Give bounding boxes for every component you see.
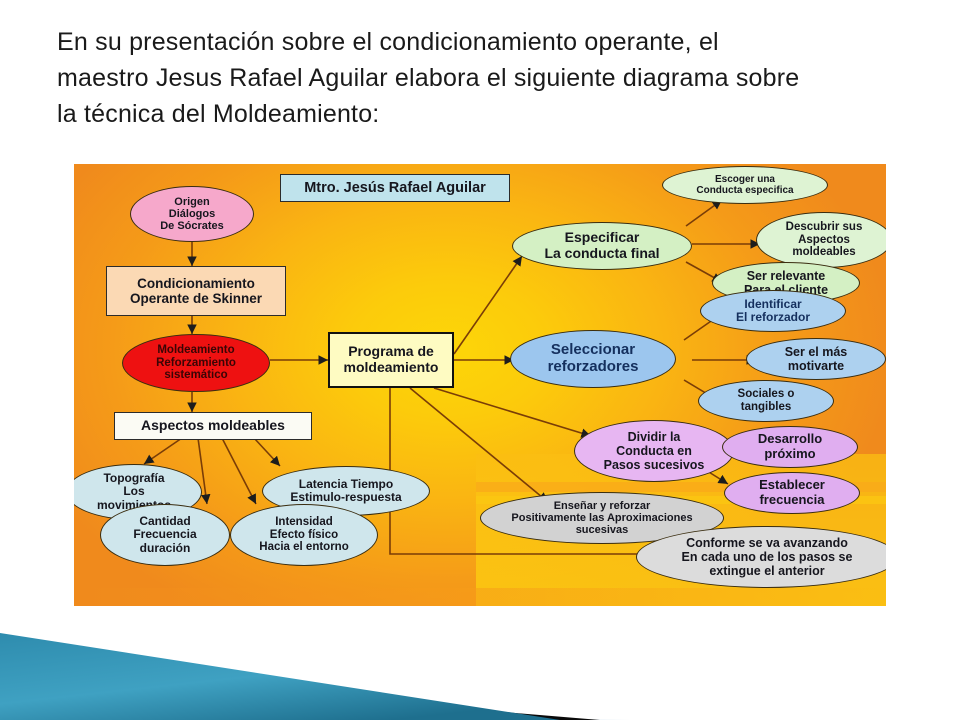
- slide-corner-decoration: [0, 600, 960, 720]
- node-establecer: Establecer frecuencia: [724, 472, 860, 514]
- node-desarrollo: Desarrollo próximo: [722, 426, 858, 468]
- diagram-image: Mtro. Jesús Rafael Aguilar Origen Diálog…: [74, 164, 886, 606]
- node-aspectos-moldeables: Aspectos moldeables: [114, 412, 312, 440]
- node-dividir-conducta: Dividir la Conducta en Pasos sucesivos: [574, 420, 734, 482]
- diagram-caption-box: Mtro. Jesús Rafael Aguilar: [280, 174, 510, 202]
- node-condicionamiento: Condicionamiento Operante de Skinner: [106, 266, 286, 316]
- node-descubrir: Descubrir sus Aspectos moldeables: [756, 212, 886, 268]
- node-identificar: Identificar El reforzador: [700, 290, 846, 332]
- node-intensidad: Intensidad Efecto físico Hacia el entorn…: [230, 504, 378, 566]
- node-conforme-avanzando: Conforme se va avanzando En cada uno de …: [636, 526, 886, 588]
- node-programa-moldeamiento: Programa de moldeamiento: [328, 332, 454, 388]
- page-title: En su presentación sobre el condicionami…: [57, 24, 927, 132]
- node-seleccionar-reforzadores: Seleccionar reforzadores: [510, 330, 676, 388]
- node-especificar: Especificar La conducta final: [512, 222, 692, 270]
- node-escoger: Escoger una Conducta especifica: [662, 166, 828, 204]
- decoration-teal-wedge: [0, 633, 560, 720]
- node-cantidad: Cantidad Frecuencia duración: [100, 504, 230, 566]
- node-origen: Origen Diálogos De Sócrates: [130, 186, 254, 242]
- node-moldeamiento: Moldeamiento Reforzamiento sistemático: [122, 334, 270, 392]
- node-sociales: Sociales o tangibles: [698, 380, 834, 422]
- node-ser-el-mas: Ser el más motivarte: [746, 338, 886, 380]
